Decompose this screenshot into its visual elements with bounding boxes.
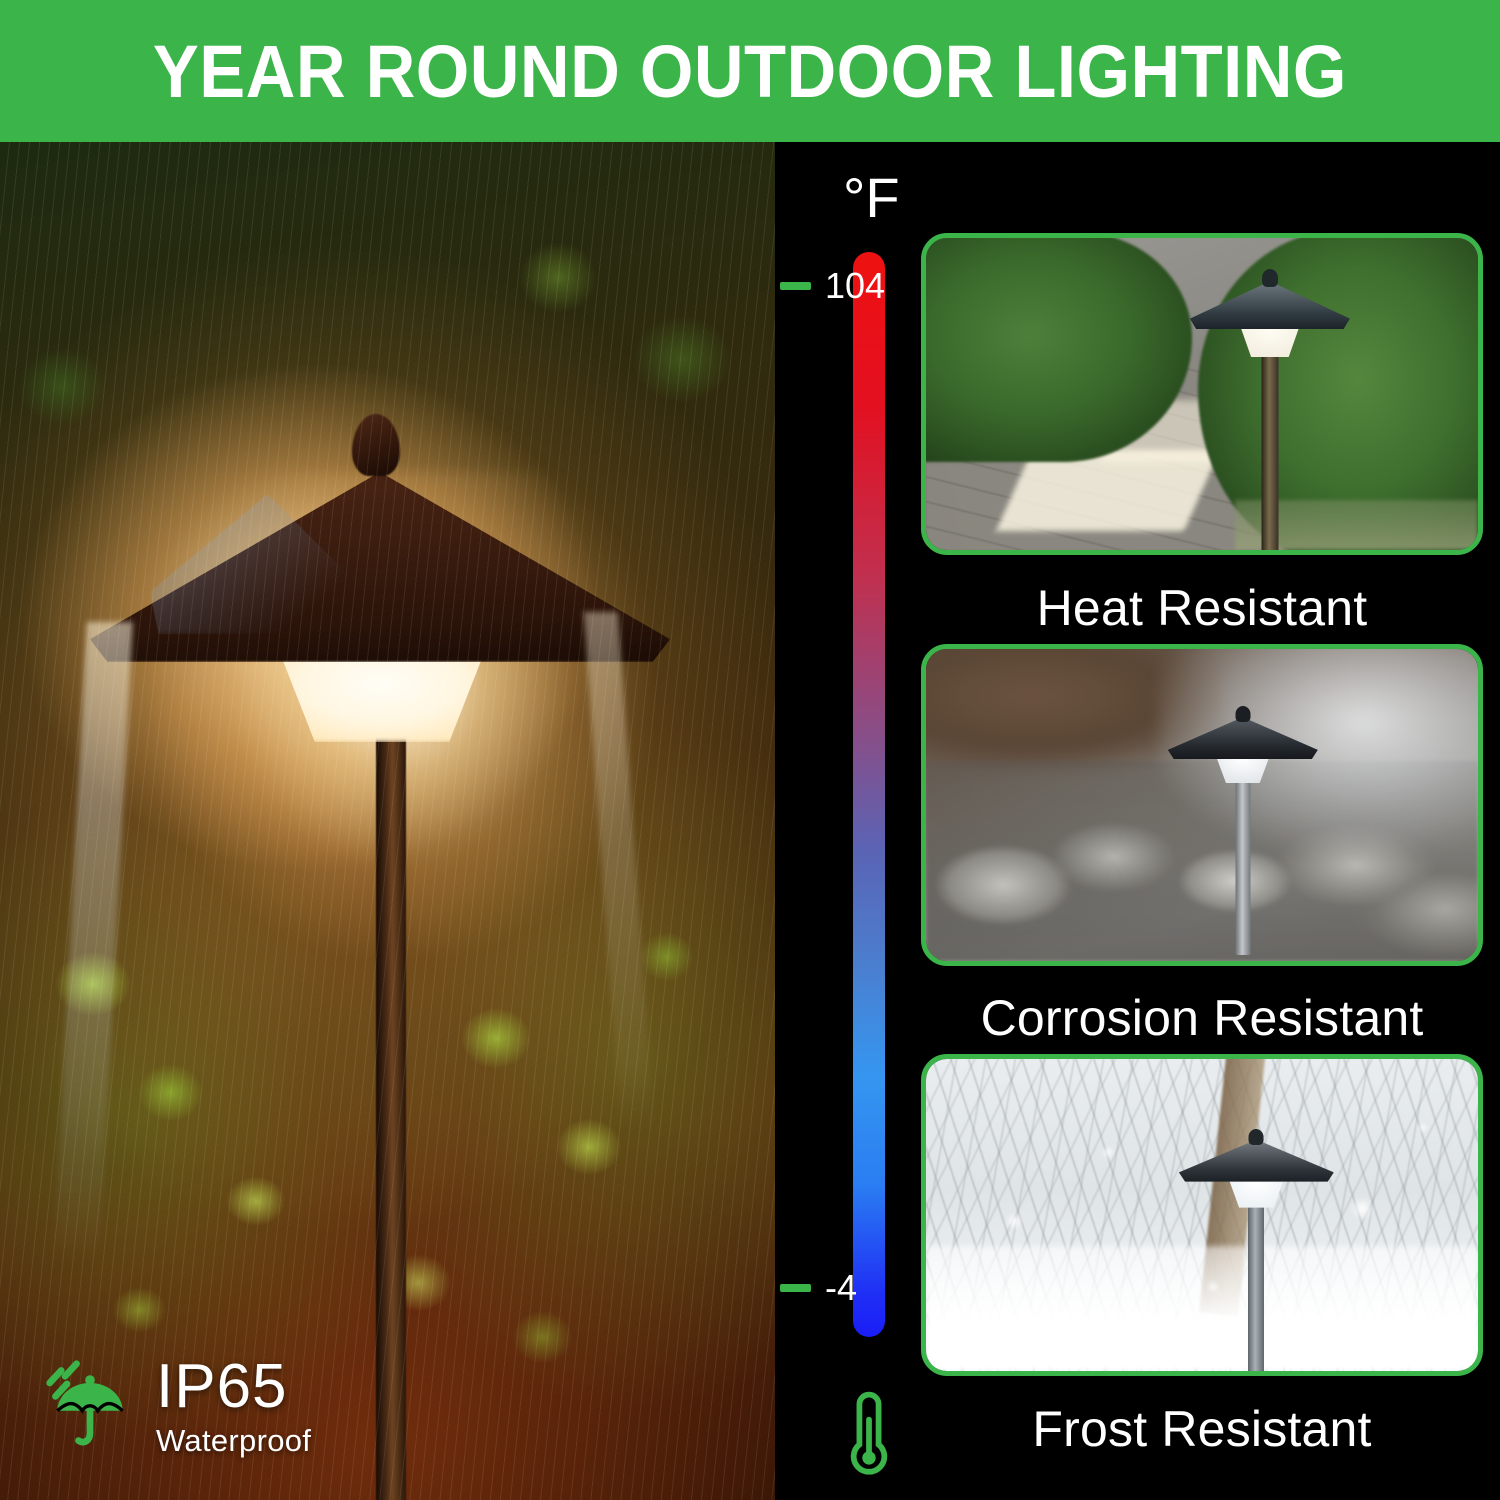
feature-photo-heat <box>921 233 1483 555</box>
falling-snowflakes <box>926 1059 1478 1371</box>
light-finial <box>1235 706 1250 722</box>
caption-frost: Frost Resistant <box>921 1404 1483 1454</box>
temperature-gradient-bar <box>853 252 885 1337</box>
light-shade <box>1190 281 1350 329</box>
temperature-tick-max: 104 <box>780 268 885 304</box>
path-light-corrosion <box>1158 705 1328 955</box>
light-pole <box>1235 763 1250 955</box>
ip65-text-block: IP65 Waterproof <box>156 1356 311 1456</box>
ip65-rating-label: IP65 <box>156 1356 311 1418</box>
hedge-left <box>922 233 1192 462</box>
caption-heat: Heat Resistant <box>921 583 1483 633</box>
temperature-unit-label: °F <box>843 170 900 226</box>
path-light-heat <box>1180 269 1360 555</box>
caption-corrosion: Corrosion Resistant <box>921 993 1483 1043</box>
corrosion-photo-scene <box>926 649 1478 961</box>
ip65-waterproof-label: Waterproof <box>156 1425 311 1456</box>
hero-rain-overlay <box>0 142 775 1500</box>
temperature-gauge: °F 104 -4 <box>775 142 920 1500</box>
features-panel: °F 104 -4 <box>775 142 1500 1500</box>
temperature-tick-min: -4 <box>780 1270 857 1306</box>
temperature-max-label: 104 <box>825 268 885 304</box>
feature-photo-frost <box>921 1054 1483 1376</box>
light-shade <box>1168 717 1318 759</box>
page-title: YEAR ROUND OUTDOOR LIGHTING <box>153 29 1347 114</box>
header-banner: YEAR ROUND OUTDOOR LIGHTING <box>0 0 1500 142</box>
temperature-min-label: -4 <box>825 1270 857 1306</box>
heat-photo-scene <box>926 238 1478 550</box>
thermometer-icon <box>840 1387 898 1479</box>
ip65-badge: IP65 Waterproof <box>42 1356 311 1456</box>
frost-photo-scene <box>926 1059 1478 1371</box>
umbrella-rain-icon <box>42 1358 138 1454</box>
infographic-page: YEAR ROUND OUTDOOR LIGHTING <box>0 0 1500 1500</box>
light-finial <box>1262 269 1278 287</box>
tick-dash-icon <box>780 1284 811 1292</box>
light-pole <box>1261 333 1278 555</box>
hero-photo-waterproof: IP65 Waterproof <box>0 142 775 1500</box>
tick-dash-icon <box>780 282 811 290</box>
feature-photo-corrosion <box>921 644 1483 966</box>
